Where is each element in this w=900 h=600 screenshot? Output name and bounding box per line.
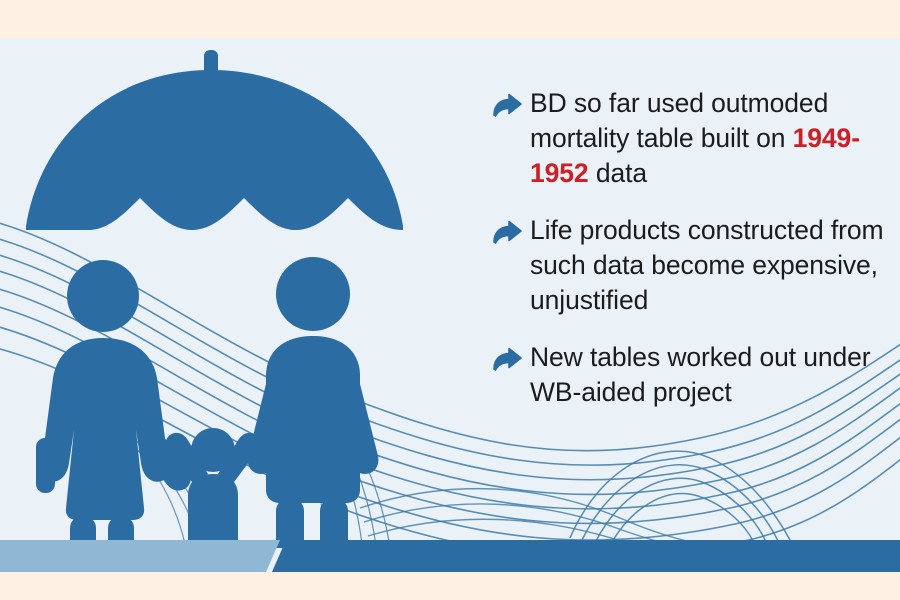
footer-bar (0, 540, 900, 572)
bullet-text-1: BD so far used outmoded mortality table … (530, 86, 890, 191)
bullet-item-1: BD so far used outmoded mortality table … (490, 86, 890, 191)
bullet-text-2: Life products constructed from such data… (530, 213, 890, 318)
bullet-item-3: New tables worked out under WB-aided pro… (490, 340, 890, 410)
bullet-item-2: Life products constructed from such data… (490, 213, 890, 318)
bullet-1-segment-1: BD so far used outmoded mortality table … (530, 88, 828, 153)
infographic-root: BD so far used outmoded mortality table … (0, 0, 900, 600)
mother-figure (36, 260, 191, 548)
curved-arrow-icon (490, 346, 524, 376)
bullet-text-3: New tables worked out under WB-aided pro… (530, 340, 890, 410)
family-umbrella-artwork (8, 38, 428, 548)
footer-bar-left (0, 540, 280, 572)
umbrella-canopy (26, 70, 403, 230)
curved-arrow-icon (490, 219, 524, 249)
bullet-list: BD so far used outmoded mortality table … (490, 86, 890, 432)
father-figure (248, 257, 379, 548)
curved-arrow-icon (490, 92, 524, 122)
bullet-1-segment-3: data (589, 158, 647, 188)
main-panel: BD so far used outmoded mortality table … (0, 38, 900, 572)
